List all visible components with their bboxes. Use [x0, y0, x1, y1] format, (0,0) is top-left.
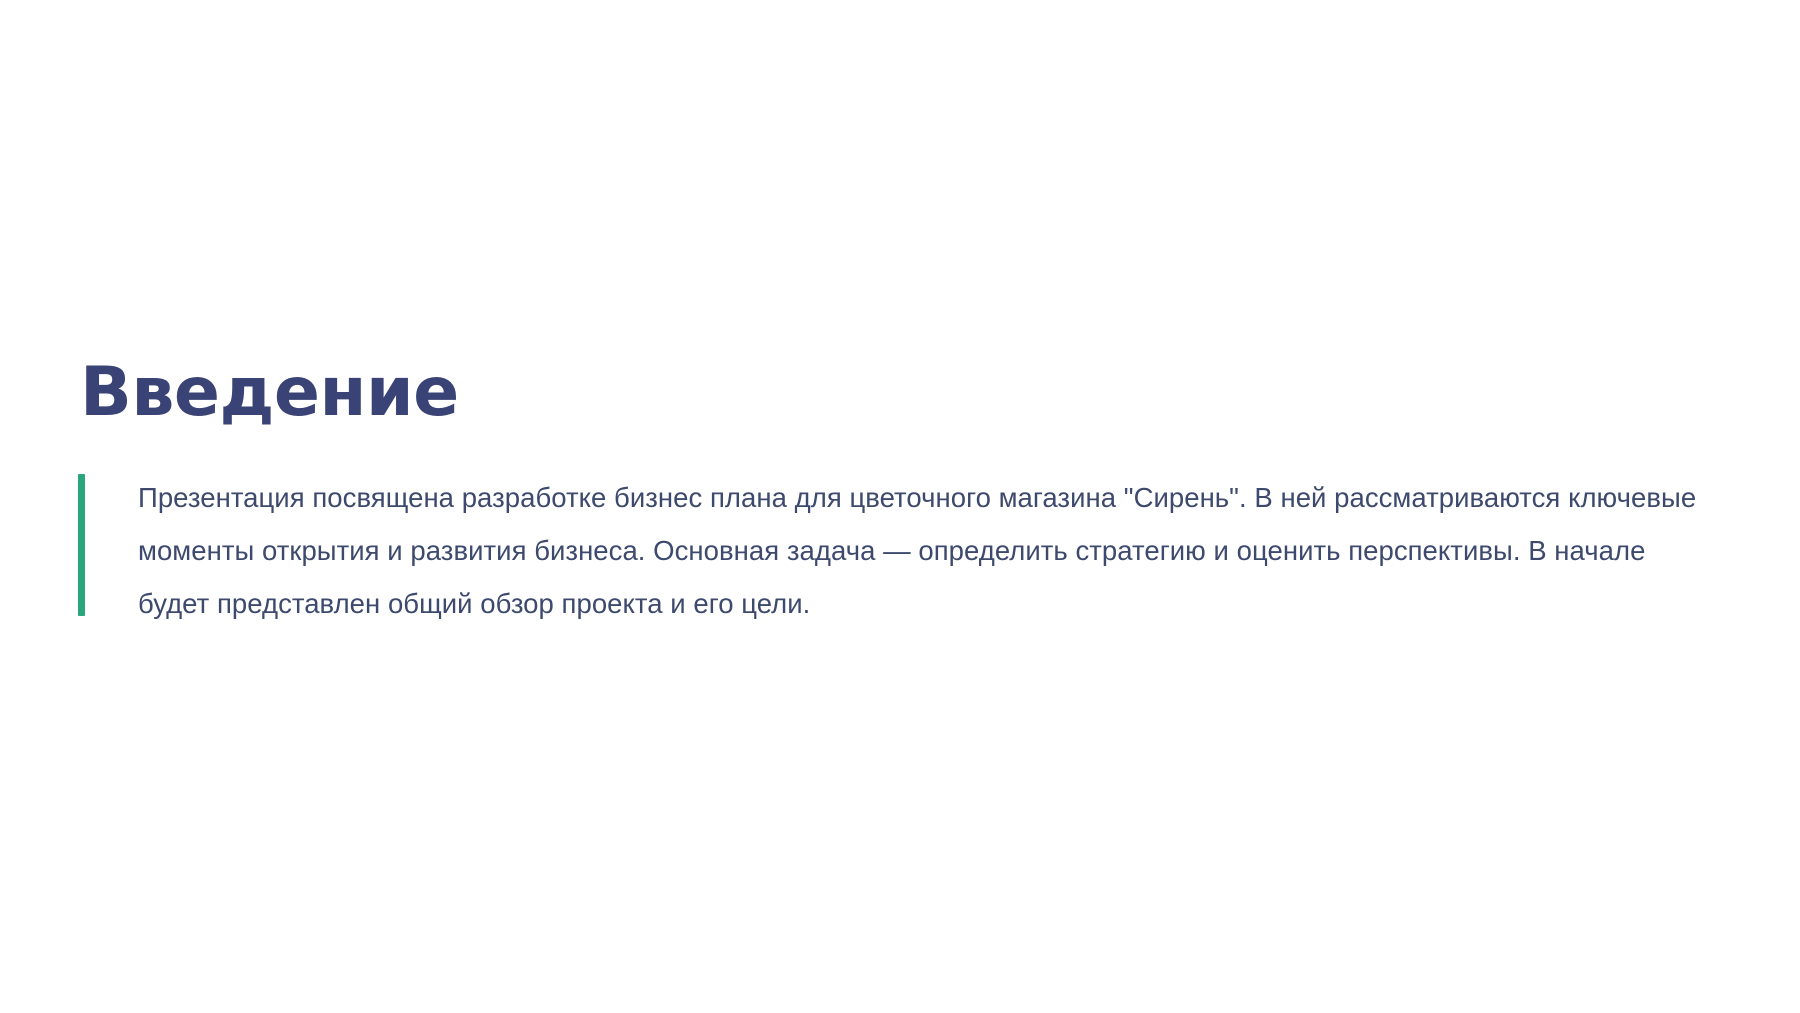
presentation-slide: Введение Презентация посвящена разработк…	[0, 0, 1800, 1013]
body-paragraph: Презентация посвящена разработке бизнес …	[138, 471, 1723, 630]
accent-bar	[78, 474, 85, 616]
slide-content: Введение Презентация посвящена разработк…	[78, 358, 1723, 630]
page-title: Введение	[80, 358, 1723, 427]
body-text-block: Презентация посвящена разработке бизнес …	[78, 471, 1723, 630]
